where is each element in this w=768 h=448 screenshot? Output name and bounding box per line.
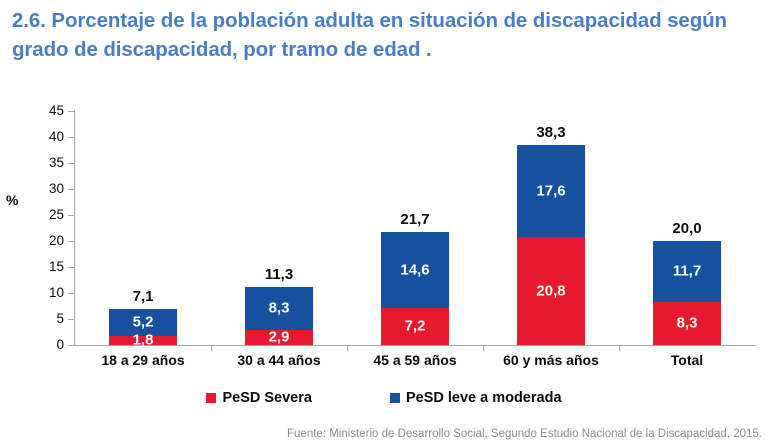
bar-segment-value-severa: 2,9 — [245, 330, 313, 345]
bar-stack[interactable]: 11,78,320,0 — [653, 241, 721, 345]
y-axis-tick-label: 45 — [8, 103, 64, 118]
bar-total-label: 21,7 — [381, 211, 449, 228]
bar-segment-leve-moderada[interactable]: 8,3 — [245, 287, 313, 330]
bar-segment-severa[interactable]: 8,3 — [653, 302, 721, 345]
x-axis-tick — [347, 345, 348, 351]
bar-total-label: 7,1 — [109, 288, 177, 305]
y-axis-tick — [68, 345, 74, 346]
bar-group[interactable]: 14,67,221,7 — [347, 111, 483, 345]
y-axis-tick — [68, 319, 74, 320]
y-axis-tick — [68, 189, 74, 190]
chart-legend: PeSD SeveraPeSD leve a moderada — [0, 390, 768, 406]
y-axis-tick-label: 25 — [8, 207, 64, 222]
x-axis-tick — [211, 345, 212, 351]
bar-segment-value-leve: 5,2 — [109, 315, 177, 330]
bar-group[interactable]: 8,32,911,3 — [211, 111, 347, 345]
legend-label: PeSD Severa — [222, 390, 311, 406]
bar-segment-value-leve: 17,6 — [517, 184, 585, 199]
bar-segment-value-severa: 20,8 — [517, 283, 585, 298]
bar-segment-severa[interactable]: 20,8 — [517, 237, 585, 345]
y-axis-tick — [68, 241, 74, 242]
legend-swatch-severa-icon — [206, 393, 216, 403]
bar-group[interactable]: 5,21,87,1 — [75, 111, 211, 345]
bar-stack[interactable]: 8,32,911,3 — [245, 287, 313, 345]
bar-segment-value-severa: 1,8 — [109, 333, 177, 348]
legend-swatch-leve-icon — [390, 393, 400, 403]
x-axis-category-label: 60 y más años — [483, 352, 619, 368]
bar-segment-value-leve: 8,3 — [245, 301, 313, 316]
bar-segment-severa[interactable]: 7,2 — [381, 308, 449, 345]
x-axis-tick — [619, 345, 620, 351]
y-axis-tick-label: 35 — [8, 155, 64, 170]
bar-segment-value-leve: 14,6 — [381, 262, 449, 277]
bar-segment-leve-moderada[interactable]: 14,6 — [381, 232, 449, 308]
bar-total-label: 38,3 — [517, 124, 585, 141]
y-axis-tick-label: 0 — [8, 337, 64, 352]
y-axis-tick-label: 20 — [8, 233, 64, 248]
y-axis-tick — [68, 267, 74, 268]
bar-total-label: 20,0 — [653, 220, 721, 237]
bar-group[interactable]: 17,620,838,3 — [483, 111, 619, 345]
bar-group[interactable]: 11,78,320,0 — [619, 111, 755, 345]
bar-segment-value-leve: 11,7 — [653, 264, 721, 279]
plot-area: 5,21,87,18,32,911,314,67,221,717,620,838… — [75, 111, 755, 345]
bar-segment-severa[interactable]: 2,9 — [245, 330, 313, 345]
bar-segment-leve-moderada[interactable]: 17,6 — [517, 145, 585, 237]
bar-segment-value-severa: 7,2 — [381, 319, 449, 334]
bar-segment-value-severa: 8,3 — [653, 316, 721, 331]
bar-stack[interactable]: 17,620,838,3 — [517, 145, 585, 345]
x-axis-category-label: 30 a 44 años — [211, 352, 347, 368]
bar-total-label: 11,3 — [245, 266, 313, 283]
y-axis-tick — [68, 215, 74, 216]
y-axis-tick-label: 10 — [8, 285, 64, 300]
y-axis-tick — [68, 111, 74, 112]
x-axis-category-label: Total — [619, 352, 755, 368]
y-axis-tick-label: 15 — [8, 259, 64, 274]
bar-stack[interactable]: 14,67,221,7 — [381, 232, 449, 345]
y-axis-tick — [68, 137, 74, 138]
legend-label: PeSD leve a moderada — [406, 390, 562, 406]
legend-item[interactable]: PeSD leve a moderada — [390, 390, 562, 406]
x-axis-tick — [483, 345, 484, 351]
y-axis-tick-label: 5 — [8, 311, 64, 326]
y-axis-tick — [68, 163, 74, 164]
page-title: 2.6. Porcentaje de la población adulta e… — [12, 6, 757, 64]
bar-stack[interactable]: 5,21,87,1 — [109, 309, 177, 345]
source-note: Fuente: Ministerio de Desarrollo Social,… — [287, 428, 762, 440]
y-axis-tick-label: 30 — [8, 181, 64, 196]
x-axis-category-label: 18 a 29 años — [75, 352, 211, 368]
y-axis-tick-label: 40 — [8, 129, 64, 144]
legend-item[interactable]: PeSD Severa — [206, 390, 311, 406]
bar-segment-leve-moderada[interactable]: 11,7 — [653, 241, 721, 302]
bar-segment-severa[interactable]: 1,8 — [109, 336, 177, 345]
y-axis-tick — [68, 293, 74, 294]
x-axis-category-label: 45 a 59 años — [347, 352, 483, 368]
